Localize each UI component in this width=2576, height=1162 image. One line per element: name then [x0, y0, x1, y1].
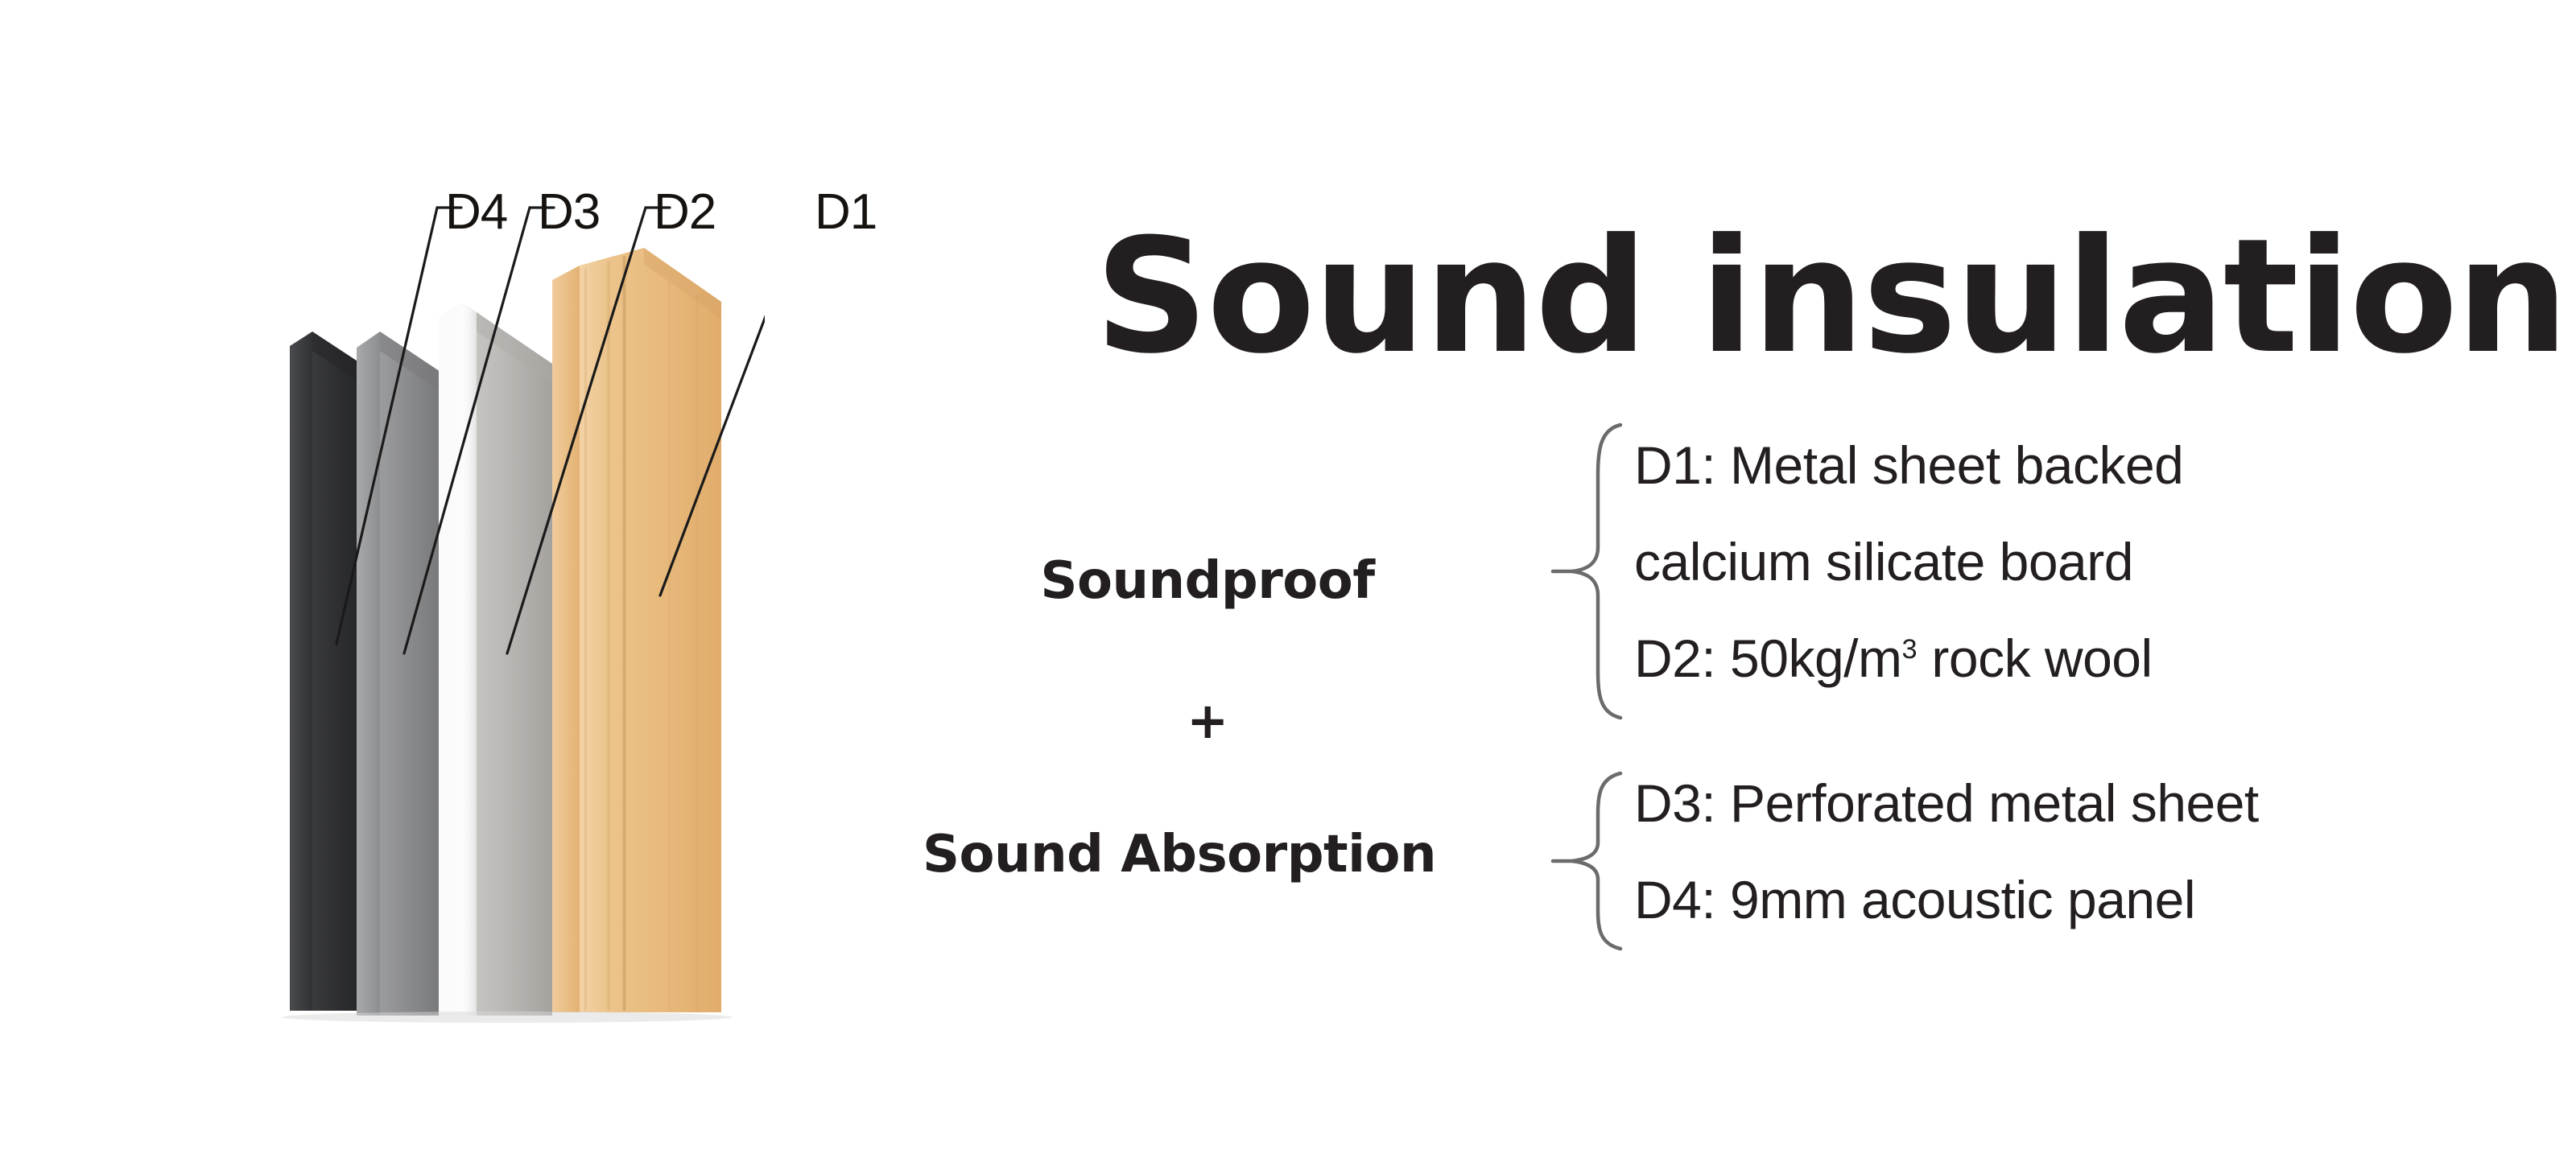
- detail-line-d4: D4: 9mm acoustic panel: [1634, 873, 2195, 926]
- detail-line-d1-part1: D1: Metal sheet backed: [1634, 439, 2183, 492]
- callout-label-d4: D4: [445, 187, 507, 237]
- detail-d2-prefix: D2: 50kg/m: [1634, 628, 1901, 688]
- callout-label-d2: D2: [654, 187, 716, 237]
- infographic-canvas: D4 D3 D2 D1 Sound insulation Soundproof …: [0, 0, 2576, 1162]
- detail-d2-suffix: rock wool: [1918, 628, 2153, 688]
- panel-layer-d1-face: [552, 248, 721, 1012]
- detail-line-d2: D2: 50kg/m3 rock wool: [1634, 632, 2153, 685]
- page-title: Sound insulation: [1095, 218, 2318, 376]
- summary-term-soundproof: Soundproof: [869, 555, 1546, 607]
- detail-line-d3: D3: Perforated metal sheet: [1634, 777, 2259, 830]
- panel-layer-d1-inner: [477, 312, 552, 1016]
- summary-term-sound-absorption: Sound Absorption: [813, 829, 1546, 880]
- panel-layer-d3: [357, 332, 452, 1016]
- callout-label-d1: D1: [815, 187, 877, 237]
- layered-panel-photo: [266, 161, 765, 1038]
- callout-label-d3: D3: [538, 187, 600, 237]
- detail-d2-superscript: 3: [1901, 634, 1917, 665]
- detail-line-d1-part2: calcium silicate board: [1634, 535, 2133, 588]
- curly-brace-soundproof-icon: [1550, 418, 1638, 724]
- panel-layer-d2: [439, 303, 477, 1016]
- curly-brace-absorption-icon: [1550, 768, 1638, 954]
- summary-plus-symbol: +: [869, 696, 1546, 746]
